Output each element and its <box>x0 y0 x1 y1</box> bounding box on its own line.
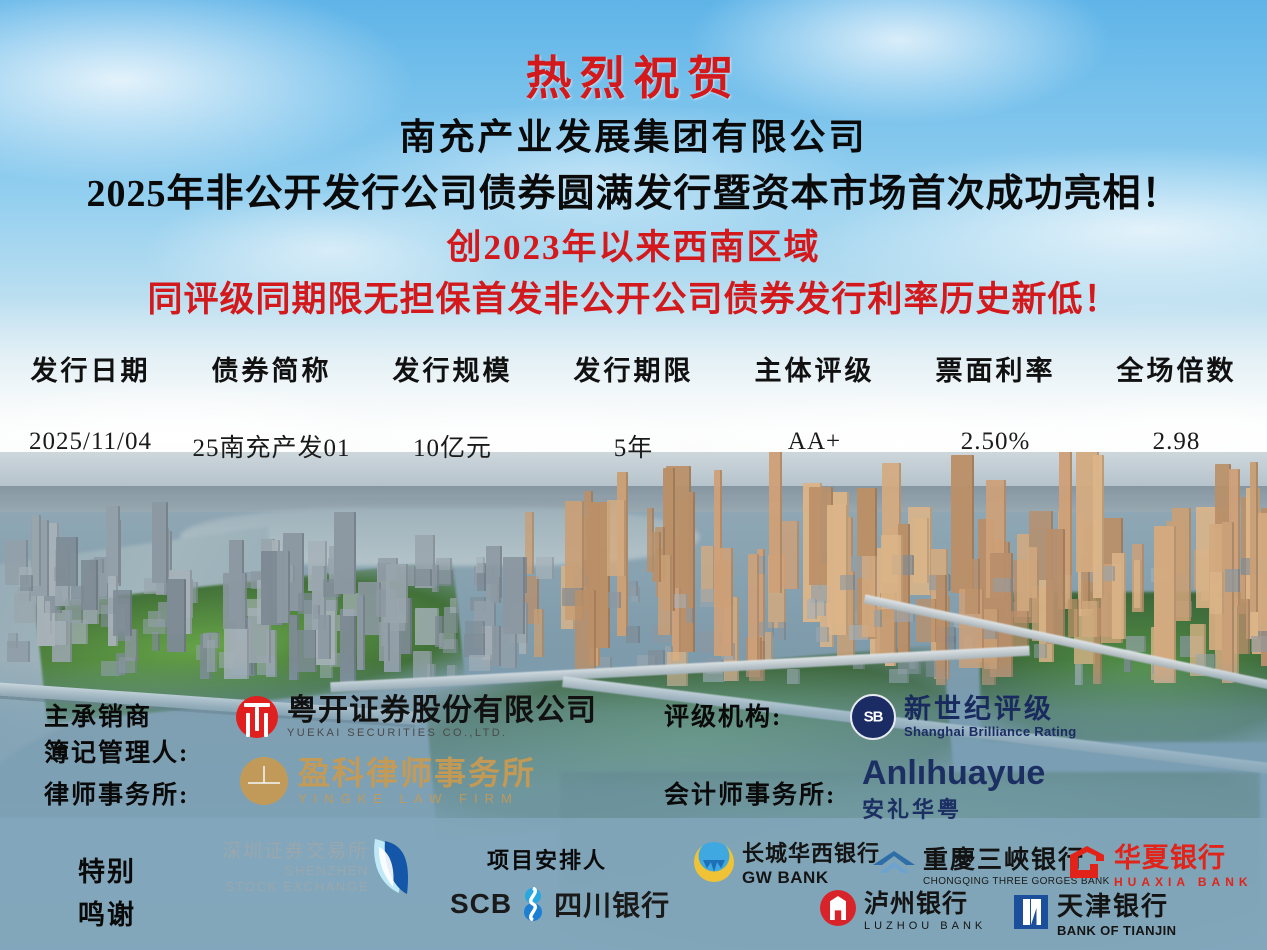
law-firm-label: 律师事务所: <box>44 775 189 811</box>
th-tenor: 发行期限 <box>543 345 724 392</box>
huaxia-bank-logo: 华夏银行 HUAXIA BANK <box>1068 836 1253 889</box>
yingke-cube-icon <box>240 757 288 805</box>
tianjin-name-en: BANK OF TIANJIN <box>1057 923 1176 938</box>
brilliance-name-en: Shanghai Brilliance Rating <box>904 724 1077 739</box>
table-header-row: 发行日期 债券简称 发行规模 发行期限 主体评级 票面利率 全场倍数 <box>0 345 1267 392</box>
special-thanks-label-line1: 特别 <box>78 850 136 889</box>
scb-mark-icon <box>519 887 547 921</box>
td-coupon-rate: 2.50% <box>905 428 1086 464</box>
anlihuayue-name-en: Anlıhuayue <box>862 756 1045 790</box>
rating-agency-label: 评级机构: <box>664 697 782 733</box>
brilliance-name-cn: 新世纪评级 <box>904 695 1077 723</box>
td-issue-date: 2025/11/04 <box>0 428 181 464</box>
luzhou-mark-icon <box>820 890 856 926</box>
three-gorges-mark-icon <box>872 850 916 878</box>
luzhou-bank-logo: 泸州银行 LUZHOU BANK <box>820 884 986 932</box>
th-bond-name: 债券简称 <box>181 345 362 392</box>
sichuan-bank-logo: SCB 四川银行 <box>450 884 670 924</box>
anlihuayue-name-cn: 安礼华粤 <box>862 792 1045 824</box>
szse-name-en-line2: STOCK EXCHANGE <box>225 879 369 895</box>
luzhou-name-cn: 泸州银行 <box>864 884 986 920</box>
gw-bank-mark-icon <box>694 842 734 882</box>
accounting-firm-label: 会计师事务所: <box>664 775 836 811</box>
bond-summary-table: 发行日期 债券简称 发行规模 发行期限 主体评级 票面利率 全场倍数 2025/… <box>0 345 1267 464</box>
bank-of-tianjin-logo: 天津银行 BANK OF TIANJIN <box>1014 886 1176 938</box>
szse-name-cn: 深圳证券交易所 <box>222 836 369 863</box>
szse-mark-icon <box>369 837 413 895</box>
headline-line-3: 创2023年以来西南区域 <box>0 219 1267 270</box>
th-issuer-rating: 主体评级 <box>724 345 905 392</box>
yuekai-name-en: YUEKAI SECURITIES CO.,LTD. <box>287 727 597 739</box>
th-coupon-rate: 票面利率 <box>905 345 1086 392</box>
underwriter-label-line1: 主承销商 <box>44 697 152 733</box>
celebration-poster: 热烈祝贺 南充产业发展集团有限公司 2025年非公开发行公司债券圆满发行暨资本市… <box>0 0 1267 950</box>
table-row: 2025/11/04 25南充产发01 10亿元 5年 AA+ 2.50% 2.… <box>0 428 1267 464</box>
underwriter-label-line2: 簿记管理人: <box>44 733 189 769</box>
shenzhen-stock-exchange-logo: 深圳证券交易所 SHENZHEN STOCK EXCHANGE <box>222 836 413 896</box>
brilliance-rating-logo: 新世纪评级 Shanghai Brilliance Rating <box>850 694 1077 740</box>
anlihuayue-logo: Anlıhuayue 安礼华粤 <box>862 756 1045 824</box>
project-arranger-label: 项目安排人 <box>487 843 607 875</box>
company-name: 南充产业发展集团有限公司 <box>0 108 1267 160</box>
gw-bank-name-cn: 长城华西银行 <box>742 836 880 868</box>
brilliance-seal-icon <box>850 694 896 740</box>
headline-line-4: 同评级同期限无担保首发非公开公司债券发行利率历史新低！ <box>0 271 1267 322</box>
huaxia-name-cn: 华夏银行 <box>1114 836 1253 875</box>
gw-bank-logo: 长城华西银行 GW BANK <box>694 836 880 888</box>
huaxia-mark-icon <box>1068 845 1106 881</box>
yingke-name-en: YINGKE LAW FIRM <box>298 791 536 806</box>
yuekai-mark-icon <box>236 696 278 738</box>
td-bond-name: 25南充产发01 <box>181 428 362 464</box>
td-issuer-rating: AA+ <box>724 428 905 464</box>
special-thanks-label-line2: 鸣谢 <box>78 893 136 932</box>
tianjin-name-cn: 天津银行 <box>1057 886 1176 923</box>
th-issue-date: 发行日期 <box>0 345 181 392</box>
tianjin-mark-icon <box>1014 895 1048 929</box>
th-issue-size: 发行规模 <box>362 345 543 392</box>
scb-name-cn: 四川银行 <box>554 884 670 924</box>
yingke-law-firm-logo: 盈科律师事务所 YINGKE LAW FIRM <box>240 757 536 806</box>
scb-abbrev: SCB <box>450 888 512 920</box>
td-issue-size: 10亿元 <box>362 428 543 464</box>
yuekai-name-cn: 粤开证券股份有限公司 <box>287 695 597 727</box>
headline-line-2: 2025年非公开发行公司债券圆满发行暨资本市场首次成功亮相！ <box>0 162 1267 217</box>
td-tenor: 5年 <box>543 428 724 464</box>
congratulations-title: 热烈祝贺 <box>0 42 1267 108</box>
luzhou-name-en: LUZHOU BANK <box>864 920 986 932</box>
yingke-name-cn: 盈科律师事务所 <box>298 757 536 791</box>
szse-name-en-line1: SHENZHEN <box>285 863 369 879</box>
td-bid-multiple: 2.98 <box>1086 428 1267 464</box>
yuekai-securities-logo: 粤开证券股份有限公司 YUEKAI SECURITIES CO.,LTD. <box>236 695 597 739</box>
th-bid-multiple: 全场倍数 <box>1086 345 1267 392</box>
